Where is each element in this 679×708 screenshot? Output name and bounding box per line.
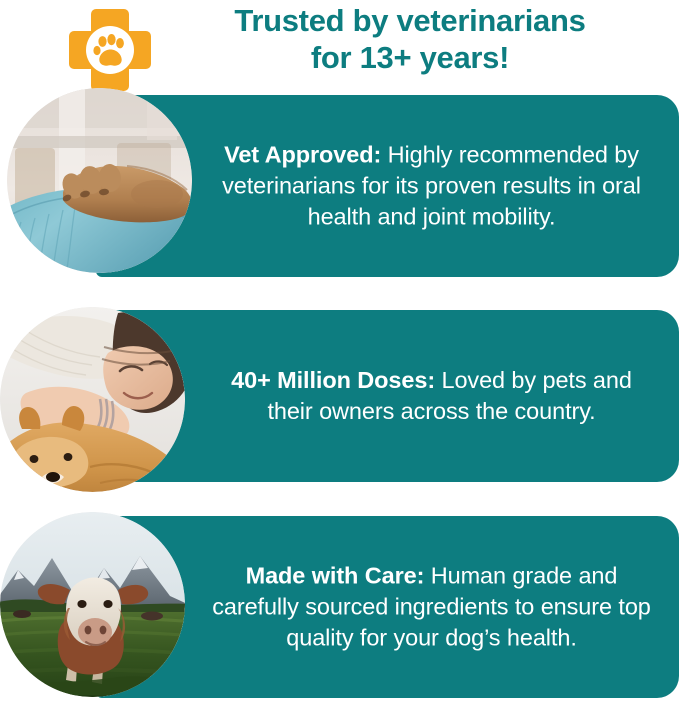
feature-title: 40+ Million Doses: [231,367,435,393]
feature-text: Made with Care: Human grade and carefull… [206,561,657,654]
dog-paw-on-gloved-hand-photo [7,88,192,273]
headline-line-1: Trusted by veterinarians [234,3,585,38]
headline-line-2: for 13+ years! [160,39,660,76]
feature-title: Made with Care: [246,563,425,589]
woman-hugging-shiba-inu-photo [0,307,185,492]
feature-text: Vet Approved: Highly recommended by vete… [206,140,657,233]
feature-row-made-with-care: Made with Care: Human grade and carefull… [0,508,679,704]
cow-in-pasture-photo [0,512,185,697]
page-title: Trusted by veterinarians for 13+ years! [160,2,660,76]
header: Trusted by veterinarians for 13+ years! [0,0,679,92]
vet-cross-paw-badge-icon [66,6,154,94]
feature-title: Vet Approved: [224,142,381,168]
feature-row-million-doses: 40+ Million Doses: Loved by pets and the… [0,300,679,495]
feature-text: 40+ Million Doses: Loved by pets and the… [206,365,657,427]
promo-infographic: Trusted by veterinarians for 13+ years! … [0,0,679,708]
feature-row-vet-approved: Vet Approved: Highly recommended by vete… [0,88,679,278]
